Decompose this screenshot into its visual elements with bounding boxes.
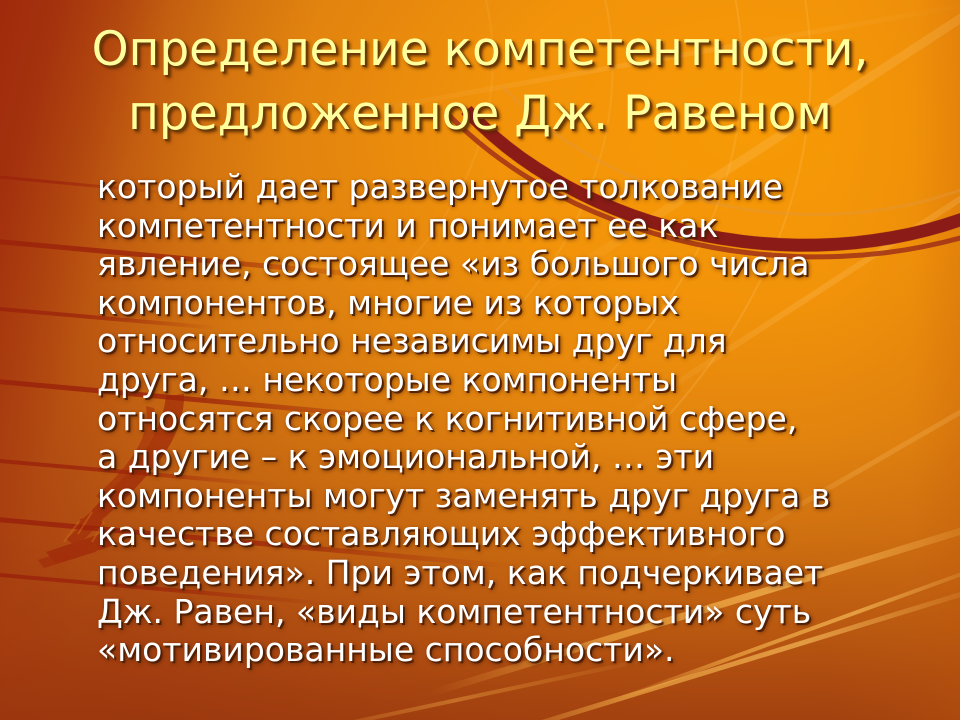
slide-body-text: который дает развернутое толкование комп…: [97, 168, 927, 670]
presentation-slide: Определение компетентности, предложенное…: [0, 0, 960, 720]
slide-title: Определение компетентности, предложенное…: [40, 18, 920, 146]
